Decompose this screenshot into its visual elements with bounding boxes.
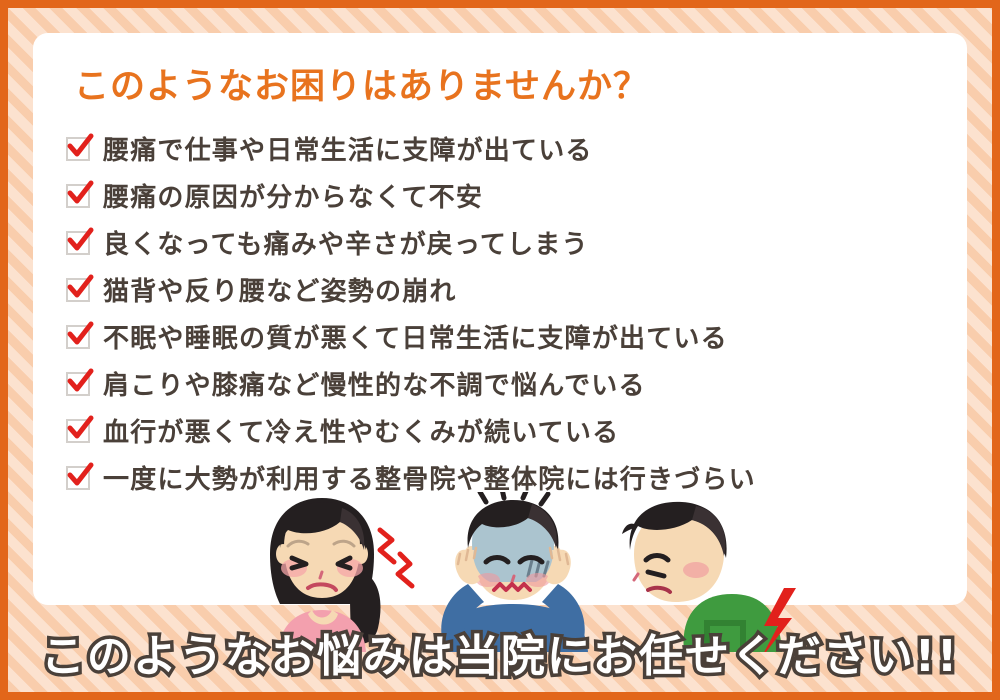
content-card: このようなお困りはありませんか？ 腰痛で仕事や日常生活に支障が出ている 腰痛の原… bbox=[33, 33, 967, 605]
checkbox-checked-icon[interactable] bbox=[66, 325, 90, 349]
checklist-item-label: 猫背や反り腰など姿勢の崩れ bbox=[103, 271, 457, 308]
checklist-item-label: 良くなっても痛みや辛さが戻ってしまう bbox=[103, 224, 589, 261]
checklist-item-label: 不眠や睡眠の質が悪くて日常生活に支障が出ている bbox=[103, 318, 728, 355]
poster-root: このようなお困りはありませんか？ 腰痛で仕事や日常生活に支障が出ている 腰痛の原… bbox=[0, 0, 1000, 700]
checklist: 腰痛で仕事や日常生活に支障が出ている 腰痛の原因が分からなくて不安 良くなっても… bbox=[66, 125, 936, 501]
checklist-item-label: 腰痛で仕事や日常生活に支障が出ている bbox=[103, 130, 593, 167]
checklist-item-label: 肩こりや膝痛など慢性的な不調で悩んでいる bbox=[103, 365, 646, 402]
checkbox-checked-icon[interactable] bbox=[66, 137, 90, 161]
checkbox-checked-icon[interactable] bbox=[66, 466, 90, 490]
checklist-item[interactable]: 肩こりや膝痛など慢性的な不調で悩んでいる bbox=[66, 360, 936, 407]
page-title: このようなお困りはありませんか？ bbox=[74, 58, 649, 109]
checklist-item[interactable]: 良くなっても痛みや辛さが戻ってしまう bbox=[66, 219, 936, 266]
checkbox-checked-icon[interactable] bbox=[66, 184, 90, 208]
checklist-item[interactable]: 血行が悪くて冷え性やむくみが続いている bbox=[66, 407, 936, 454]
checklist-item[interactable]: 腰痛で仕事や日常生活に支障が出ている bbox=[66, 125, 936, 172]
checklist-item[interactable]: 腰痛の原因が分からなくて不安 bbox=[66, 172, 936, 219]
bottom-banner: このようなお悩みは当院にお任せください!! bbox=[0, 612, 1000, 692]
checklist-item-label: 腰痛の原因が分からなくて不安 bbox=[103, 177, 483, 214]
checkbox-checked-icon[interactable] bbox=[66, 231, 90, 255]
checkbox-checked-icon[interactable] bbox=[66, 419, 90, 443]
checkbox-checked-icon[interactable] bbox=[66, 372, 90, 396]
checklist-item-label: 一度に大勢が利用する整骨院や整体院には行きづらい bbox=[103, 459, 756, 496]
banner-text: このようなお悩みは当院にお任せください!! bbox=[41, 620, 959, 684]
checklist-item[interactable]: 猫背や反り腰など姿勢の崩れ bbox=[66, 266, 936, 313]
checklist-item-label: 血行が悪くて冷え性やむくみが続いている bbox=[103, 412, 619, 449]
checkbox-checked-icon[interactable] bbox=[66, 278, 90, 302]
checklist-item[interactable]: 一度に大勢が利用する整骨院や整体院には行きづらい bbox=[66, 454, 936, 501]
checklist-item[interactable]: 不眠や睡眠の質が悪くて日常生活に支障が出ている bbox=[66, 313, 936, 360]
